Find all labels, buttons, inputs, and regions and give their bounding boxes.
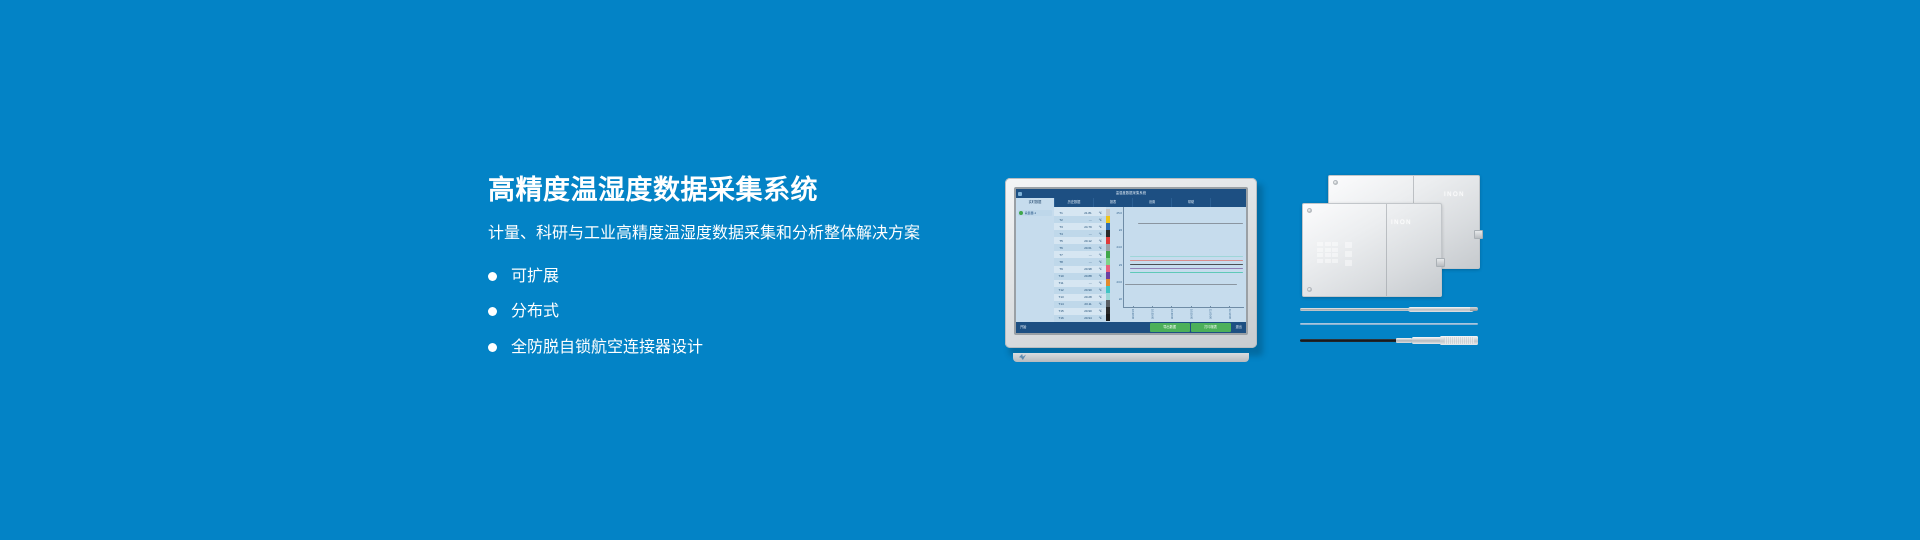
- monitor-inner-frame: 温湿度数据采集系统 实时数据 历史数据 报表 设置 帮助: [1014, 187, 1248, 335]
- chart-series-line: [1125, 284, 1236, 285]
- chart-x-tick-label: 11:10:00: [1228, 309, 1231, 319]
- enclosure-screw: [1307, 287, 1312, 292]
- feature-label: 可扩展: [511, 267, 559, 286]
- channel-unit: ℃: [1095, 302, 1106, 306]
- exit-button[interactable]: 退出: [1232, 322, 1246, 333]
- channel-value: ---: [1068, 260, 1095, 264]
- tab-realtime-data[interactable]: 实时数据: [1016, 198, 1055, 207]
- blue-sensor-cable: [1300, 322, 1478, 326]
- brand-label-front: INON: [1391, 220, 1412, 226]
- channel-name: T11: [1054, 281, 1068, 285]
- bullet-dot-icon: [488, 343, 497, 352]
- channel-value: 21.81: [1068, 211, 1095, 215]
- table-row[interactable]: T920.98℃: [1054, 266, 1106, 273]
- chart-series-line: [1130, 264, 1243, 265]
- channel-name: T12: [1054, 288, 1068, 292]
- port-column-marks: [1345, 242, 1352, 266]
- enclosure-screw: [1307, 208, 1312, 213]
- channel-unit: ℃: [1095, 232, 1106, 236]
- chart-x-tick-label: 10:30:00: [1151, 309, 1154, 319]
- chart-x-tick-label: 10:50:00: [1189, 309, 1192, 319]
- connector-knurl-texture: [1444, 337, 1474, 344]
- chart-x-tick-label: 10:20:00: [1131, 309, 1134, 319]
- channel-unit: ℃: [1095, 274, 1106, 278]
- start-button[interactable]: 开始: [1016, 322, 1030, 333]
- bullet-dot-icon: [488, 272, 497, 281]
- port-grid-marks: [1317, 242, 1338, 266]
- monitor-product-image: 温湿度数据采集系统 实时数据 历史数据 报表 设置 帮助: [1005, 178, 1263, 356]
- channel-name: T5: [1054, 239, 1068, 243]
- sidebar-item-label: 采集器-1: [1025, 211, 1037, 215]
- chart-series-line: [1130, 268, 1243, 269]
- page-title: 高精度温湿度数据采集系统: [488, 174, 968, 206]
- trend-chart: 25.02424.02323.022 10:20:0010:30:0010:40…: [1110, 207, 1246, 322]
- monitor-bezel: 温湿度数据采集系统 实时数据 历史数据 报表 设置 帮助: [1005, 178, 1257, 348]
- channel-name: T3: [1054, 225, 1068, 229]
- tab-settings[interactable]: 设置: [1133, 198, 1172, 207]
- copy-block: 高精度温湿度数据采集系统 计量、科研与工业高精度温湿度数据采集和分析整体解决方案…: [488, 174, 968, 357]
- chart-y-tick-label: 22: [1119, 297, 1122, 301]
- chart-y-tick-label: 24.0: [1117, 245, 1122, 249]
- table-row[interactable]: T520.12℃: [1054, 237, 1106, 244]
- channel-table: T121.81℃T2---℃T324.79℃T4---℃T520.12℃T620…: [1054, 207, 1106, 322]
- software-body: 采集器-1 T121.81℃T2---℃T324.79℃T4---℃T520.1…: [1016, 207, 1246, 322]
- chart-series-line: [1138, 223, 1243, 224]
- table-row[interactable]: T1020.88℃: [1054, 273, 1106, 280]
- channel-unit: ℃: [1095, 218, 1106, 222]
- table-row[interactable]: T2---℃: [1054, 216, 1106, 223]
- chart-x-tick-mark: [1229, 306, 1230, 308]
- enclosure-connector-port: [1474, 230, 1483, 239]
- table-row[interactable]: T7---℃: [1054, 251, 1106, 258]
- software-tab-bar: 实时数据 历史数据 报表 设置 帮助: [1016, 198, 1246, 207]
- channel-name: T8: [1054, 260, 1068, 264]
- chart-x-tick-mark: [1210, 306, 1211, 308]
- connector-barrel: [1412, 337, 1442, 345]
- channel-unit: ℃: [1095, 225, 1106, 229]
- temperature-probe: [1300, 306, 1478, 312]
- channel-name: T1: [1054, 211, 1068, 215]
- chart-x-tick-label: 10:40:00: [1170, 309, 1173, 319]
- channel-name: T7: [1054, 253, 1068, 257]
- feature-label: 分布式: [511, 302, 559, 321]
- status-online-icon: [1019, 211, 1023, 215]
- chart-y-axis: 25.02424.02323.022: [1110, 207, 1124, 308]
- channel-value: 20.98: [1068, 267, 1095, 271]
- channel-unit: ℃: [1095, 267, 1106, 271]
- table-row[interactable]: T1320.28℃: [1054, 294, 1106, 301]
- list-item: 分布式: [488, 302, 968, 321]
- channel-name: T2: [1054, 218, 1068, 222]
- tab-bar-filler: [1211, 198, 1246, 207]
- software-title: 温湿度数据采集系统: [1016, 189, 1246, 198]
- list-item: 全防脱自锁航空连接器设计: [488, 338, 968, 357]
- channel-value: 24.79: [1068, 225, 1095, 229]
- channel-name: T6: [1054, 246, 1068, 250]
- monitor-screen: 温湿度数据采集系统 实时数据 历史数据 报表 设置 帮助: [1016, 189, 1246, 333]
- print-report-button[interactable]: 打印报表: [1191, 323, 1231, 332]
- chart-series-line: [1130, 256, 1243, 257]
- channel-unit: ℃: [1095, 309, 1106, 313]
- chart-series-line: [1130, 260, 1243, 261]
- channel-unit: ℃: [1095, 295, 1106, 299]
- probe-body: [1408, 307, 1474, 312]
- channel-value: 20.61: [1068, 246, 1095, 250]
- page-subtitle: 计量、科研与工业高精度温湿度数据采集和分析整体解决方案: [488, 224, 968, 245]
- channel-unit: ℃: [1095, 316, 1106, 320]
- channel-value: 20.90: [1068, 309, 1095, 313]
- enclosure-port-labels: [1317, 242, 1352, 266]
- tab-help[interactable]: 帮助: [1172, 198, 1211, 207]
- channel-value: 20.12: [1068, 239, 1095, 243]
- bullet-dot-icon: [488, 307, 497, 316]
- chart-x-tick-label: 11:00:00: [1209, 309, 1212, 319]
- table-row[interactable]: T8---℃: [1054, 258, 1106, 265]
- probe-stem: [1300, 308, 1412, 311]
- channel-unit: ℃: [1095, 288, 1106, 292]
- table-row[interactable]: T1220.90℃: [1054, 287, 1106, 294]
- hardware-product-image: INON INON: [1300, 175, 1480, 360]
- channel-value: 20.28: [1068, 295, 1095, 299]
- export-data-button[interactable]: 导出数据: [1150, 323, 1190, 332]
- channel-value: ---: [1068, 253, 1095, 257]
- chart-x-tick-mark: [1133, 306, 1134, 308]
- channel-unit: ℃: [1095, 281, 1106, 285]
- chart-series-line: [1130, 272, 1243, 273]
- table-row[interactable]: T11---℃: [1054, 280, 1106, 287]
- monitor-stand: [1013, 353, 1249, 362]
- aviation-connector-cable: [1300, 336, 1478, 345]
- channel-value: 20.11: [1068, 302, 1095, 306]
- channel-unit: ℃: [1095, 211, 1106, 215]
- software-titlebar: 温湿度数据采集系统: [1016, 189, 1246, 198]
- channel-unit: ℃: [1095, 253, 1106, 257]
- channel-name: T10: [1054, 274, 1068, 278]
- table-row[interactable]: T324.79℃: [1054, 223, 1106, 230]
- chart-y-tick-label: 23.0: [1117, 280, 1122, 284]
- chart-plot-area: [1123, 209, 1244, 308]
- channel-name: T4: [1054, 232, 1068, 236]
- list-item: 可扩展: [488, 267, 968, 286]
- channel-unit: ℃: [1095, 260, 1106, 264]
- probe-tip: [1470, 307, 1478, 310]
- chart-x-tick-mark: [1171, 306, 1172, 308]
- feature-label: 全防脱自锁航空连接器设计: [511, 338, 703, 357]
- software-bottom-toolbar: 开始 导出数据 打印报表 退出: [1016, 322, 1246, 333]
- table-row[interactable]: T121.81℃: [1054, 209, 1106, 216]
- channel-unit: ℃: [1095, 239, 1106, 243]
- channel-name: T9: [1054, 267, 1068, 271]
- table-row[interactable]: T620.61℃: [1054, 244, 1106, 251]
- table-row[interactable]: T4---℃: [1054, 230, 1106, 237]
- device-tree-sidebar: 采集器-1: [1016, 207, 1054, 322]
- channel-value: 20.90: [1068, 288, 1095, 292]
- channel-value: ---: [1068, 232, 1095, 236]
- channel-name: T13: [1054, 295, 1068, 299]
- cable-ferrule: [1396, 338, 1412, 344]
- table-row[interactable]: T1420.11℃: [1054, 301, 1106, 308]
- feature-list: 可扩展 分布式 全防脱自锁航空连接器设计: [488, 267, 968, 357]
- channel-name: T16: [1054, 316, 1068, 320]
- channel-value: 20.88: [1068, 274, 1095, 278]
- enclosure-seam: [1386, 204, 1387, 296]
- channel-value: ---: [1068, 281, 1095, 285]
- channel-value: 20.94: [1068, 316, 1095, 320]
- table-row[interactable]: T1520.90℃: [1054, 308, 1106, 315]
- chart-x-tick-mark: [1191, 306, 1192, 308]
- enclosure-front: INON: [1302, 203, 1442, 297]
- channel-name: T15: [1054, 309, 1068, 313]
- chart-y-tick-label: 24: [1119, 228, 1122, 232]
- channel-name: T14: [1054, 302, 1068, 306]
- channel-value: ---: [1068, 218, 1095, 222]
- enclosure-connector-port: [1436, 258, 1445, 267]
- chart-x-axis: 10:20:0010:30:0010:40:0010:50:0011:00:00…: [1123, 307, 1244, 308]
- channel-unit: ℃: [1095, 246, 1106, 250]
- brand-label-back: INON: [1444, 192, 1465, 198]
- enclosure-screw: [1333, 180, 1338, 185]
- tab-history-data[interactable]: 历史数据: [1055, 198, 1094, 207]
- table-row[interactable]: T1620.94℃: [1054, 315, 1106, 322]
- cable-jacket: [1300, 339, 1400, 342]
- product-banner: 高精度温湿度数据采集系统 计量、科研与工业高精度温湿度数据采集和分析整体解决方案…: [0, 0, 1920, 540]
- chart-x-tick-mark: [1152, 306, 1153, 308]
- chart-y-tick-label: 23: [1119, 263, 1122, 267]
- chart-y-tick-label: 25.0: [1117, 211, 1122, 215]
- tab-report[interactable]: 报表: [1094, 198, 1133, 207]
- cable-jacket: [1300, 323, 1478, 325]
- sidebar-item-collector-1[interactable]: 采集器-1: [1018, 210, 1052, 216]
